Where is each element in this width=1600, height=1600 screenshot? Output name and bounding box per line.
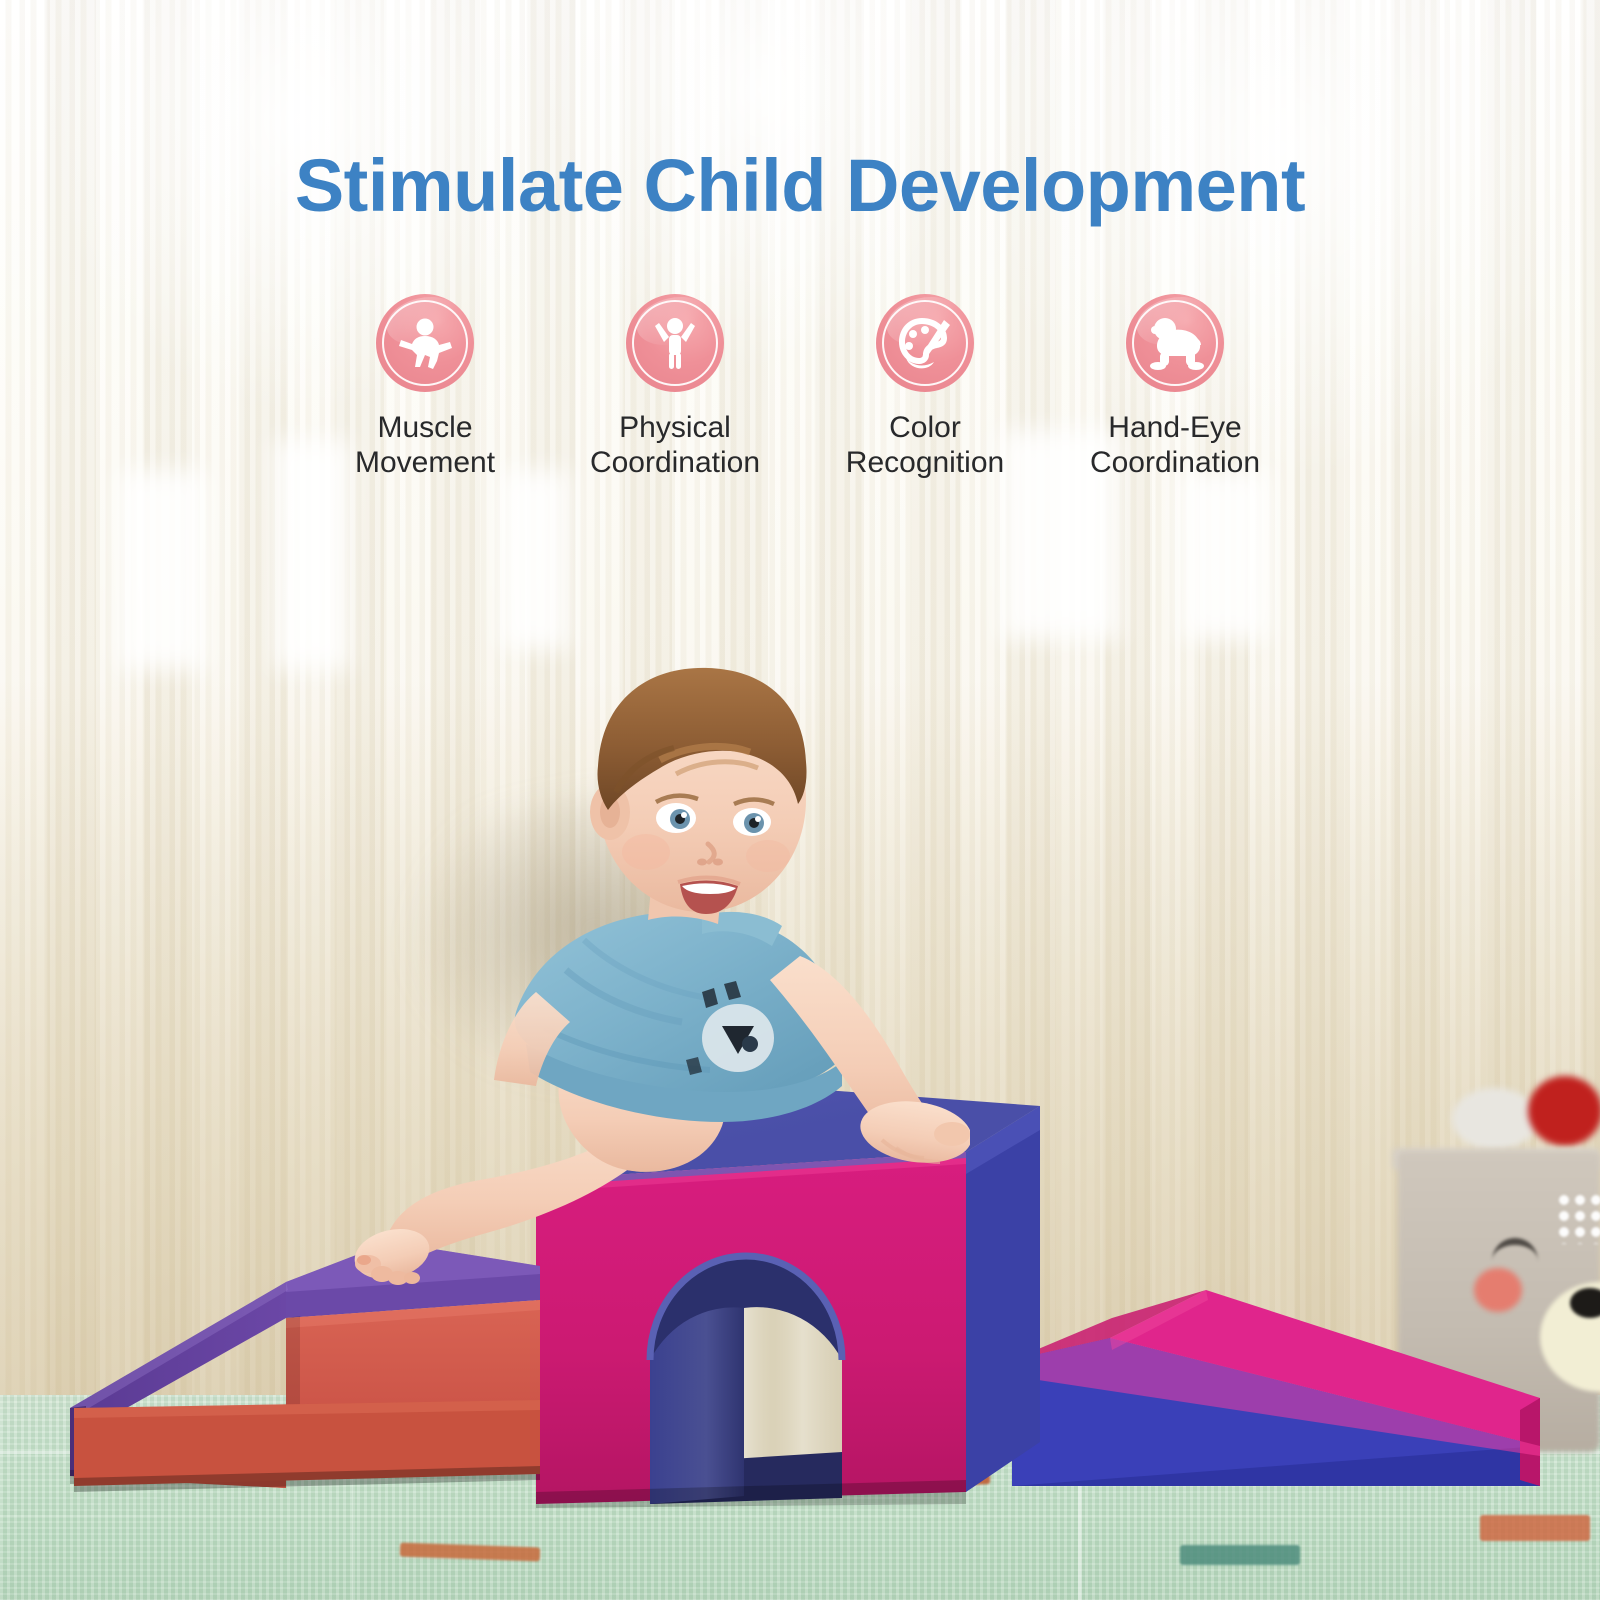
bear-freckles	[1556, 1192, 1600, 1244]
window-pane-glow	[1180, 470, 1270, 640]
toddler-photo-subject	[330, 640, 970, 1340]
child-arms-up-icon	[626, 294, 724, 392]
feature-item-hand-eye-coordination[interactable]: Hand-Eye Coordination	[1050, 294, 1300, 480]
mat-seam	[0, 1515, 1600, 1518]
feature-label-line2: Coordination	[1090, 445, 1260, 480]
window-pane-glow	[118, 470, 208, 670]
mat-motif	[1180, 1545, 1300, 1565]
feature-label-line2: Movement	[355, 445, 495, 480]
basket-plush-red	[1528, 1076, 1600, 1146]
feature-label: Physical Coordination	[590, 410, 760, 480]
feature-label: Hand-Eye Coordination	[1090, 410, 1260, 480]
feature-label-line1: Hand-Eye	[1090, 410, 1260, 445]
feature-item-physical-coordination[interactable]: Physical Coordination	[550, 294, 800, 480]
feature-label-line1: Physical	[590, 410, 760, 445]
step-block-left-base	[60, 1400, 620, 1510]
feature-item-muscle-movement[interactable]: Muscle Movement	[300, 294, 550, 480]
crawling-baby-icon	[1126, 294, 1224, 392]
feature-label: Color Recognition	[846, 410, 1004, 480]
feature-label-line1: Muscle	[355, 410, 495, 445]
feature-label-line2: Coordination	[590, 445, 760, 480]
feature-item-color-recognition[interactable]: Color Recognition	[800, 294, 1050, 480]
product-marketing-image: Stimulate Child Development Muscle Movem…	[0, 0, 1600, 1600]
ramp-right	[1000, 1230, 1540, 1490]
feature-row: Muscle Movement Physical Coordination	[0, 294, 1600, 480]
feature-label-line1: Color	[846, 410, 1004, 445]
feature-label-line2: Recognition	[846, 445, 1004, 480]
window-pane-glow	[500, 470, 570, 650]
page-title: Stimulate Child Development	[0, 143, 1600, 228]
mat-motif	[1480, 1515, 1590, 1541]
feature-label: Muscle Movement	[355, 410, 495, 480]
basket-plush-white	[1452, 1088, 1538, 1150]
child-open-arms-icon	[376, 294, 474, 392]
paint-palette-brush-icon	[876, 294, 974, 392]
